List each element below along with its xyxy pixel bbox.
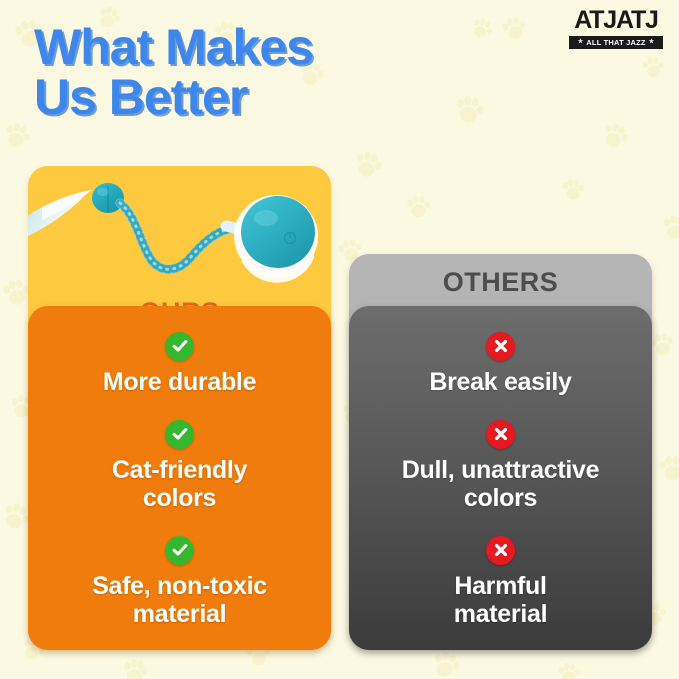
star-icon: ★ [649,39,655,45]
logo-tagline-text: ALL THAT JAZZ [586,39,645,47]
check-circle-icon [165,536,194,565]
paw-print-icon [496,10,531,45]
paw-print-icon [450,90,488,128]
star-icon: ★ [578,39,584,45]
feature-item: Harmful material [363,536,638,629]
page-title: What Makes Us Better [34,22,313,122]
paw-print-icon [560,176,587,203]
paw-print-icon [118,654,152,679]
paw-print-icon [555,659,583,679]
check-circle-icon [165,332,194,361]
feature-label: Dull, unattractive colors [363,456,638,513]
paw-print-icon [0,116,36,153]
feature-item: Break easily [363,332,638,396]
feature-item: Dull, unattractive colors [363,420,638,513]
paw-print-icon [403,191,433,221]
brand-logo: ATJATJ ★ ALL THAT JAZZ ★ [569,8,663,49]
cross-circle-icon [486,536,515,565]
comparison-card-ours: OURS More durable Cat-friendly colors [28,166,331,650]
others-feature-list: Break easily Dull, unattractive colors H… [349,306,652,650]
ours-feature-list: More durable Cat-friendly colors Safe, n… [28,306,331,650]
paw-print-icon [466,12,498,44]
card-label-others: OTHERS [349,267,652,298]
paw-print-icon [349,145,388,184]
paw-print-icon [638,52,667,81]
comparison-card-others: OTHERS Break easily Dull, unattractive c… [349,254,652,650]
feature-item: Cat-friendly colors [42,420,317,513]
paw-print-icon [596,116,634,154]
others-feature-panel: Break easily Dull, unattractive colors H… [349,306,652,650]
feature-label: Safe, non-toxic material [42,572,317,629]
check-circle-icon [165,420,194,449]
product-image [28,166,331,306]
cross-circle-icon [486,420,515,449]
logo-tagline-bar: ★ ALL THAT JAZZ ★ [569,36,663,49]
ours-feature-panel: More durable Cat-friendly colors Safe, n… [28,306,331,650]
feature-label: Break easily [363,368,638,396]
logo-wordmark: ATJATJ [569,8,663,33]
feature-item: More durable [42,332,317,396]
paw-print-icon [659,211,679,243]
paw-print-icon [654,450,679,485]
cross-circle-icon [486,332,515,361]
feature-item: Safe, non-toxic material [42,536,317,629]
feature-label: Harmful material [363,572,638,629]
feature-label: More durable [42,368,317,396]
feature-label: Cat-friendly colors [42,456,317,513]
